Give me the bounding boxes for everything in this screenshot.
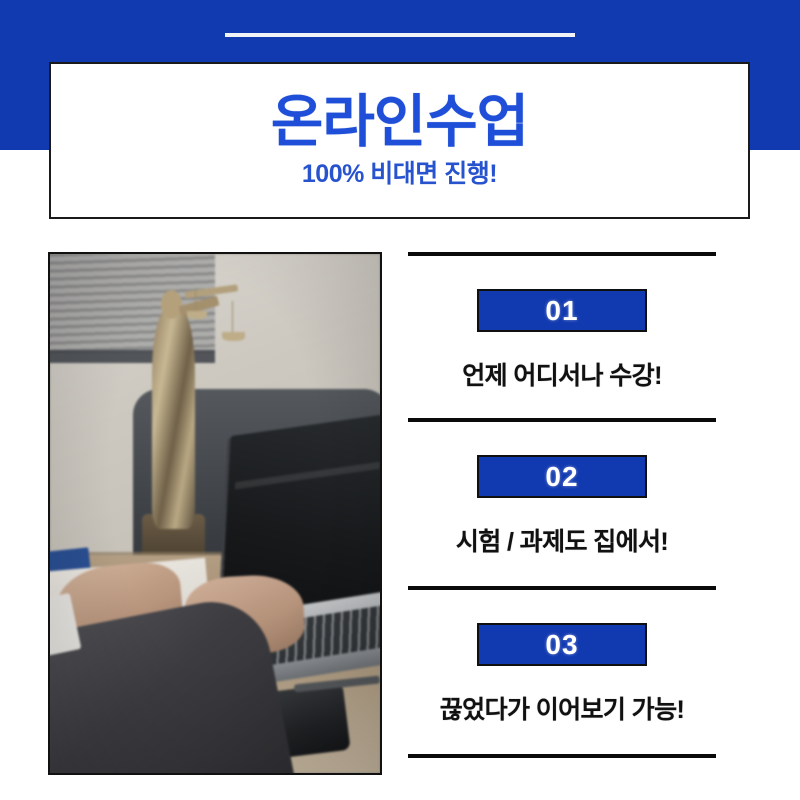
feature-badge-01: 01 <box>477 289 647 332</box>
page-title: 온라인수업 <box>271 93 528 153</box>
photo-vignette <box>50 254 380 773</box>
feature-text-02: 시험 / 과제도 집에서! <box>456 522 668 558</box>
feature-badge-02: 02 <box>477 455 647 498</box>
page-subtitle: 100% 비대면 진행! <box>302 161 497 189</box>
feature-text-03: 끊었다가 이어보기 가능! <box>440 690 684 726</box>
feature-item-03: 03 끊었다가 이어보기 가능! <box>408 590 716 754</box>
laptop-typing-photo <box>48 252 382 775</box>
title-card: 온라인수업 100% 비대면 진행! <box>49 62 750 219</box>
feature-item-01: 01 언제 어디서나 수강! <box>408 256 716 418</box>
feature-badge-03: 03 <box>477 623 647 666</box>
feature-list: 01 언제 어디서나 수강! 02 시험 / 과제도 집에서! 03 끊었다가 … <box>408 252 716 758</box>
header-rule <box>225 33 575 37</box>
feature-text-01: 언제 어디서나 수강! <box>462 356 662 392</box>
divider-bottom <box>408 754 716 758</box>
feature-item-02: 02 시험 / 과제도 집에서! <box>408 422 716 586</box>
